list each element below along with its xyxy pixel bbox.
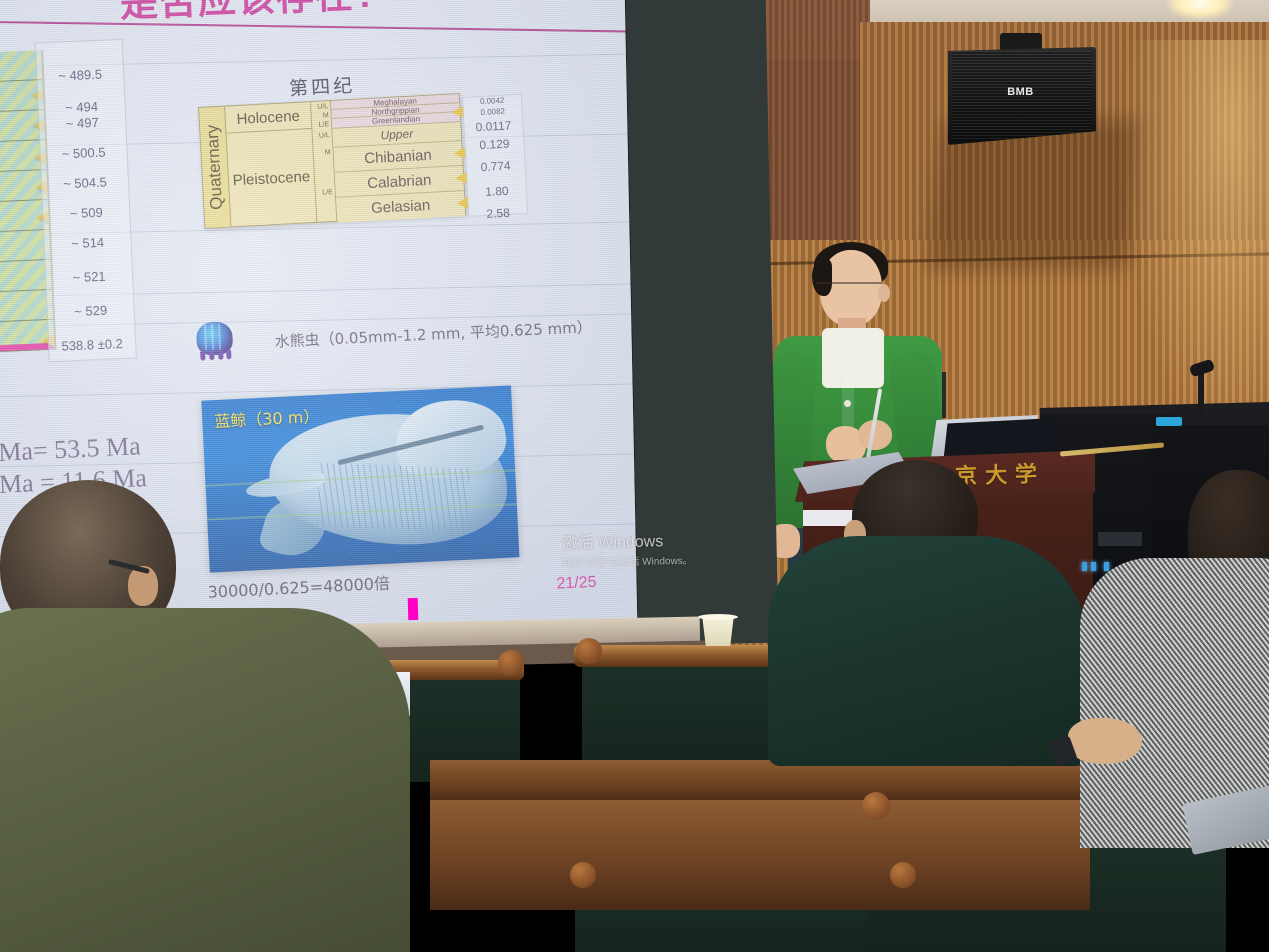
series-pleistocene: Pleistocene bbox=[227, 129, 317, 228]
quaternary-chart: 第四纪 Quaternary Holocene Pleistocene U/L … bbox=[193, 69, 501, 245]
bench-knob bbox=[570, 862, 596, 888]
bench-knob bbox=[890, 862, 916, 888]
paper-cup-rim bbox=[698, 614, 738, 620]
subdivision-mark: M bbox=[325, 149, 331, 156]
stage-cell: Gelasian bbox=[336, 191, 465, 223]
bench-knob bbox=[498, 650, 524, 676]
quaternary-stage-column: Meghalayan Northgrippian Greenlandian Up… bbox=[331, 94, 465, 221]
age-value: ~ 529 bbox=[47, 301, 134, 320]
windows-activation-watermark: 激活 Windows 转到"设置"以激活 Windows。 bbox=[562, 527, 693, 570]
subdivision-mark: U/L bbox=[317, 103, 328, 111]
audience-member-right bbox=[1060, 470, 1269, 890]
age-value: ~ 504.5 bbox=[42, 174, 129, 193]
age-value: ~ 500.5 bbox=[40, 144, 127, 163]
age-value: ~ 489.5 bbox=[37, 66, 124, 85]
blue-tape-marker bbox=[1156, 417, 1182, 426]
presenter-glasses bbox=[816, 282, 882, 294]
quaternary-age: 0.129 bbox=[465, 136, 524, 153]
geo-row: ian bbox=[0, 320, 54, 355]
speaker-mount bbox=[1000, 33, 1042, 51]
quaternary-table: Quaternary Holocene Pleistocene U/L M L/… bbox=[198, 93, 466, 229]
whale-caption: 蓝鲸（30 m） bbox=[214, 403, 320, 432]
slide-page-number: 21/25 bbox=[556, 574, 597, 594]
audience-body bbox=[0, 608, 410, 952]
audience-member-foreground bbox=[0, 480, 450, 952]
tardigrade-image bbox=[196, 321, 233, 356]
watermark-line-1: 激活 Windows bbox=[562, 527, 693, 554]
watermark-line-2: 转到"设置"以激活 Windows。 bbox=[562, 552, 693, 570]
title-underline bbox=[0, 21, 637, 33]
lecture-hall-scene: BMB 是否应该存在? 10 anian an bbox=[0, 0, 1269, 952]
tardigrade-caption: 水熊虫（0.05mm-1.2 mm, 平均0.625 mm） bbox=[274, 316, 592, 352]
quaternary-age: 0.0117 bbox=[464, 118, 523, 135]
quaternary-series-column: Holocene Pleistocene bbox=[225, 102, 317, 226]
age-value: ~ 509 bbox=[43, 204, 130, 223]
quaternary-age: 0.0042 bbox=[463, 95, 521, 107]
quaternary-heading: 第四纪 bbox=[288, 71, 355, 101]
presenter-ear bbox=[878, 284, 890, 302]
speaker-brand-label: BMB bbox=[1007, 86, 1034, 98]
subdivision-mark: L/E bbox=[322, 189, 333, 197]
bench-knob bbox=[576, 638, 602, 664]
front-desk-face bbox=[430, 800, 1090, 910]
presenter-button bbox=[844, 400, 851, 407]
age-value: 538.8 ±0.2 bbox=[49, 335, 136, 354]
subdivision-mark: L/E bbox=[318, 121, 329, 129]
quaternary-age: 0.774 bbox=[466, 158, 525, 175]
age-value: ~ 497 bbox=[39, 114, 126, 133]
quaternary-age: 1.80 bbox=[468, 183, 527, 200]
subdivision-mark: M bbox=[323, 112, 329, 119]
audience-hand bbox=[1068, 718, 1142, 764]
system-label: Quaternary bbox=[203, 124, 227, 210]
subdivision-mark: U/L bbox=[319, 132, 330, 140]
quaternary-age: 2.58 bbox=[469, 205, 528, 222]
geologic-age-column: ~ 489.5 ~ 494 ~ 497 ~ 500.5 ~ 504.5 ~ 50… bbox=[35, 39, 137, 363]
bench-knob bbox=[862, 792, 890, 820]
age-value: ~ 521 bbox=[46, 267, 133, 286]
age-value: ~ 514 bbox=[44, 234, 131, 253]
quaternary-age-column: 0.0042 0.0082 0.0117 0.129 0.774 1.80 2.… bbox=[462, 94, 528, 217]
paper-cup bbox=[700, 616, 736, 646]
audience-body bbox=[768, 536, 1088, 766]
quaternary-age: 0.0082 bbox=[464, 106, 522, 118]
ceiling-speaker: BMB bbox=[948, 47, 1096, 145]
